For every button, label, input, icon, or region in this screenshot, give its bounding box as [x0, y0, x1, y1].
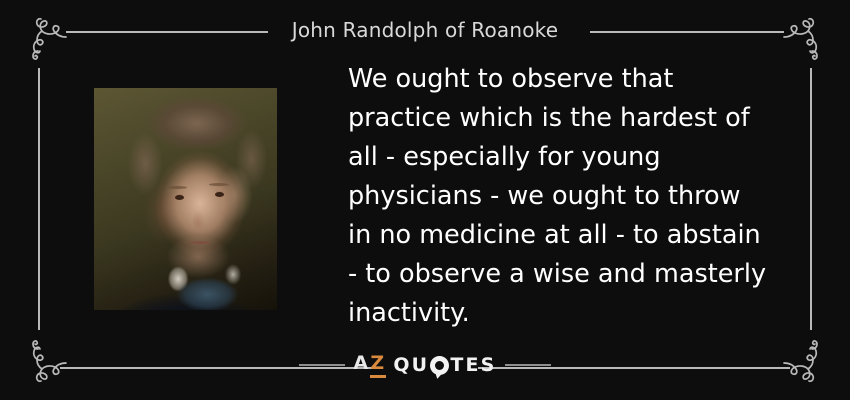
quote-line: in no medicine at all - to abstain — [348, 216, 788, 255]
brand-letter-e: E — [465, 354, 480, 376]
portrait-brow-left — [167, 186, 187, 189]
brand-letter-s: S — [481, 354, 497, 376]
frame-rule-right — [810, 68, 812, 330]
quote-text: We ought to observe that practice which … — [348, 60, 788, 333]
quote-card: John Randolph of Roanoke We ought to obs… — [0, 0, 850, 400]
brand-quotes: Q U T E S — [393, 354, 496, 376]
azquotes-logo[interactable]: A Z Q U T E S — [353, 352, 496, 378]
brand-letter-u: U — [412, 354, 430, 376]
author-portrait — [94, 88, 277, 310]
portrait-nose — [193, 212, 205, 228]
brand-letter-q: Q — [393, 354, 411, 376]
brand-az: A Z — [353, 352, 386, 378]
brand-letter-z: Z — [370, 352, 386, 378]
quote-line: We ought to observe that — [348, 60, 788, 99]
speech-bubble-icon — [430, 356, 449, 375]
portrait-eye-left — [175, 195, 184, 200]
quote-line: inactivity. — [348, 294, 788, 333]
quote-line: - to observe a wise and masterly — [348, 255, 788, 294]
brand-letter-a: A — [353, 352, 370, 374]
brand-letter-t: T — [450, 354, 465, 376]
quote-line: physicians - we ought to throw — [348, 177, 788, 216]
portrait-painting — [94, 88, 277, 310]
quote-line: all - especially for young — [348, 138, 788, 177]
brand-rule-left — [299, 364, 345, 366]
brand-rule-right — [505, 364, 551, 366]
frame-rule-left — [38, 68, 40, 330]
page-title: John Randolph of Roanoke — [0, 18, 850, 42]
quote-line: practice which is the hardest of — [348, 99, 788, 138]
brand-footer: A Z Q U T E S — [0, 352, 850, 378]
